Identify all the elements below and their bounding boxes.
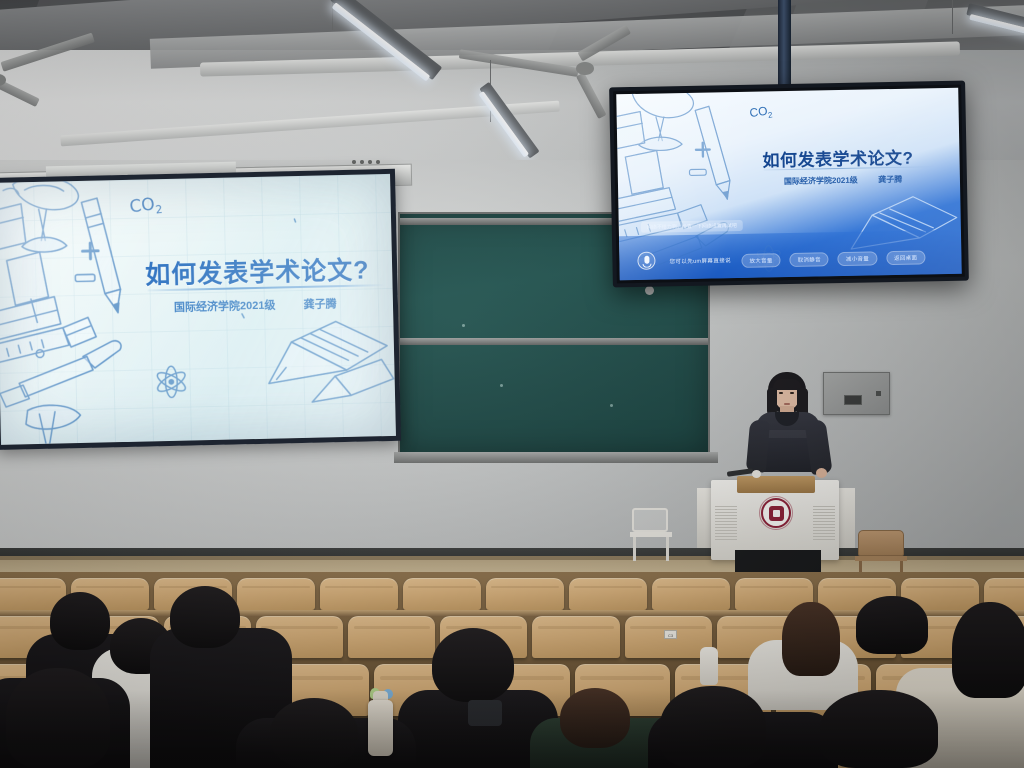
audience-person-head xyxy=(432,628,514,702)
tv-ceiling-mount xyxy=(778,0,791,90)
wall-speaker-icon xyxy=(352,160,392,166)
tv-screen-glare xyxy=(616,88,962,281)
stage-chair-wooden xyxy=(855,530,907,578)
water-bottle[interactable] xyxy=(368,700,393,756)
panel-switch-icon xyxy=(844,395,862,405)
presenter xyxy=(742,372,834,482)
audience-person-head xyxy=(560,688,630,748)
audience-person-head xyxy=(270,698,358,768)
screen-vignette xyxy=(0,174,396,445)
presenter-eye xyxy=(779,392,783,394)
seat[interactable] xyxy=(486,578,564,610)
speaker-podium xyxy=(697,468,855,560)
audience-person-head xyxy=(660,686,766,768)
stage-chair-white xyxy=(630,508,672,560)
audience-person-head xyxy=(782,602,840,676)
presenter-mouth xyxy=(784,403,790,405)
podium-speaker-grill xyxy=(715,506,737,540)
audience-person-head xyxy=(820,690,938,768)
seat[interactable] xyxy=(532,616,619,658)
cord-weight xyxy=(645,286,654,295)
podium-control-knob[interactable] xyxy=(752,470,761,478)
seat-number-tag: C3 xyxy=(664,630,677,639)
seat[interactable] xyxy=(348,616,435,658)
backpack-strap xyxy=(468,700,502,726)
podium-desktop xyxy=(737,476,815,493)
wall-mounted-tv[interactable]: CO2 如何发表学术论文? 国际经济学院2021级 龚子腾 网络不给力啊，检查一… xyxy=(609,81,969,288)
thermos-flask[interactable] xyxy=(700,647,718,685)
seat[interactable] xyxy=(320,578,398,610)
seat[interactable] xyxy=(569,578,647,610)
audience-person-head xyxy=(856,596,928,654)
panel-indicator-icon xyxy=(876,391,881,396)
chalkboard-rail xyxy=(400,338,708,345)
ceiling-fan xyxy=(0,52,130,112)
chalk-tray xyxy=(394,452,718,463)
seat[interactable] xyxy=(403,578,481,610)
audience-person-head xyxy=(952,602,1024,698)
seat[interactable] xyxy=(652,578,730,610)
audience-person-head xyxy=(6,668,110,768)
audience-person-head xyxy=(170,586,240,648)
university-seal-icon xyxy=(761,498,791,528)
presenter-eye xyxy=(790,392,794,394)
podium-speaker-grill xyxy=(813,506,835,540)
audience-person-head xyxy=(50,592,110,650)
light-rod xyxy=(952,0,953,34)
tv-screen: CO2 如何发表学术论文? 国际经济学院2021级 龚子腾 网络不给力啊，检查一… xyxy=(616,88,962,281)
seat[interactable] xyxy=(237,578,315,610)
projection-screen: CO2 如何发表学术论文? 国际经济学院2021级 龚子腾 xyxy=(0,169,401,450)
lecture-hall-scene: CO2 如何发表学术论文? 国际经济学院2021级 龚子腾 xyxy=(0,0,1024,768)
